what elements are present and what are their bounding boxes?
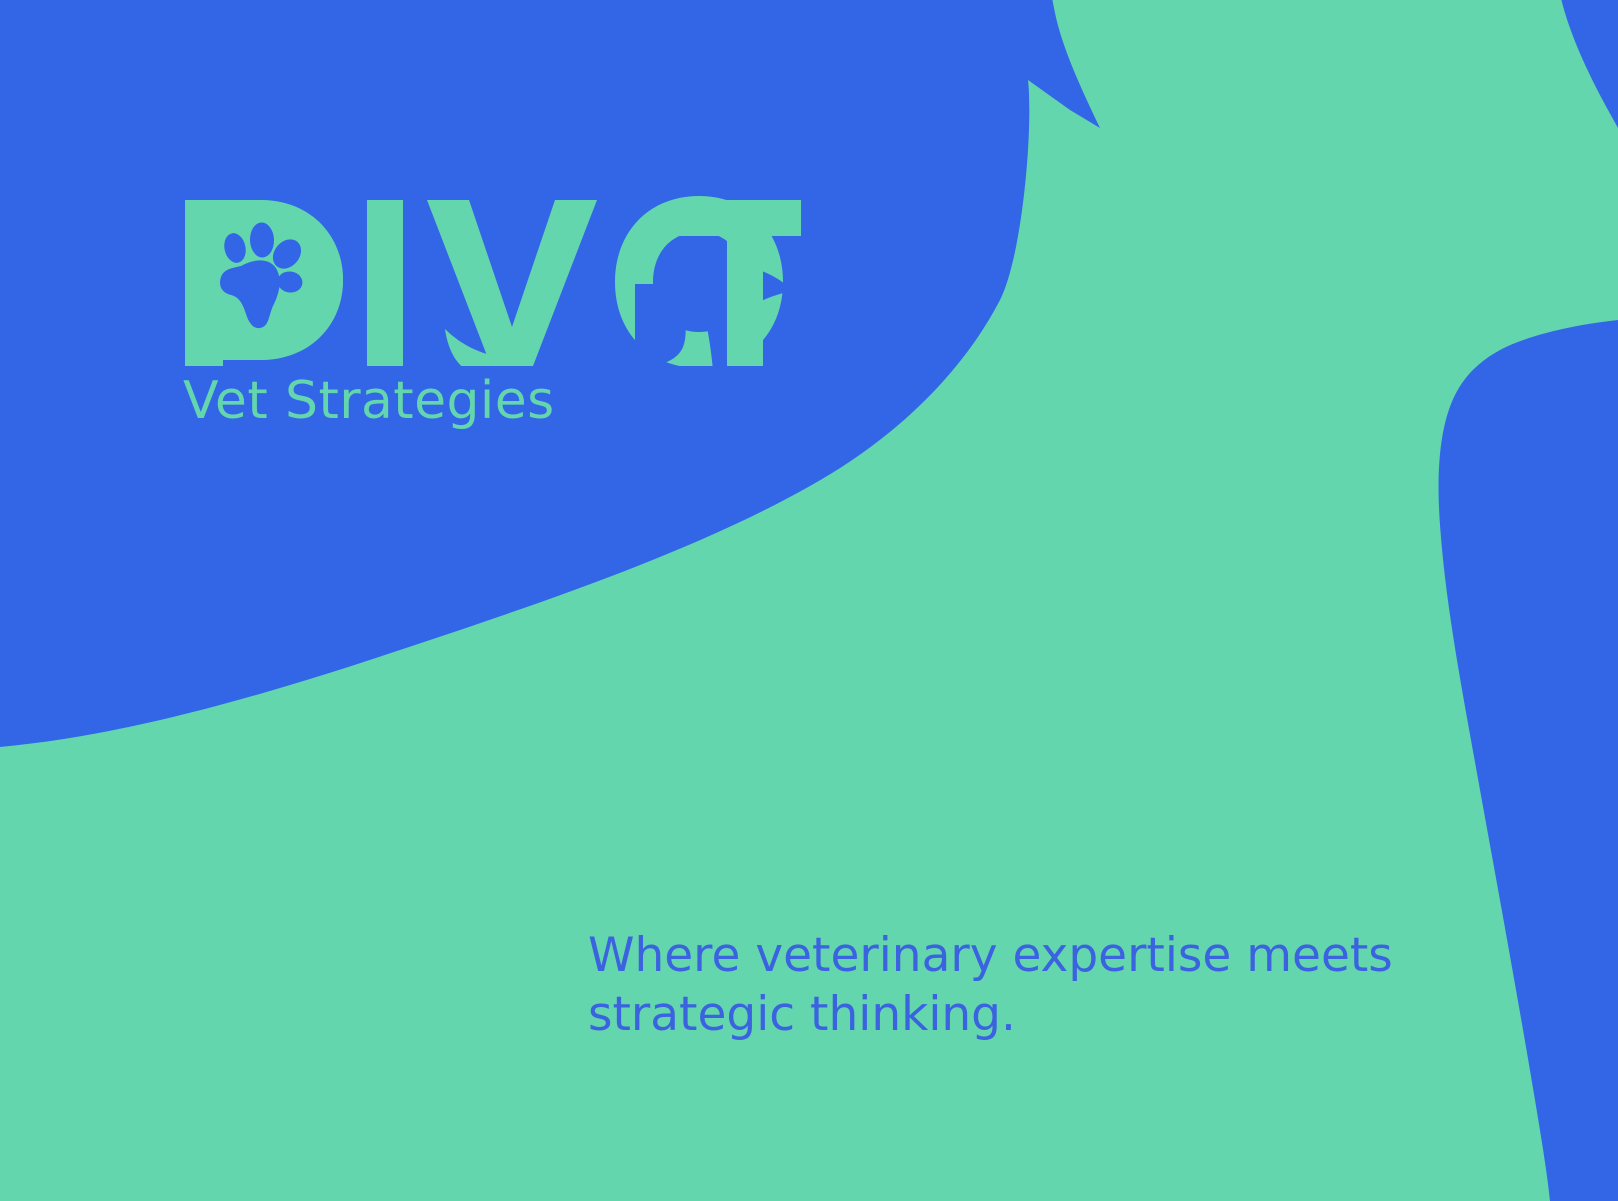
wordmark-letter-v — [427, 200, 597, 366]
tagline-line-2: strategic thinking. — [588, 985, 1448, 1044]
tagline: Where veterinary expertise meets strateg… — [588, 926, 1448, 1044]
wordmark-letter-i — [367, 200, 403, 366]
logo-subtitle: Vet Strategies — [183, 374, 823, 429]
tagline-line-1: Where veterinary expertise meets — [588, 926, 1448, 985]
wordmark-letter-p — [185, 200, 343, 366]
brand-cover-canvas: Vet Strategies Where veterinary expertis… — [0, 0, 1618, 1201]
logo-lockup: Vet Strategies — [183, 196, 823, 429]
pivot-wordmark — [183, 196, 803, 366]
